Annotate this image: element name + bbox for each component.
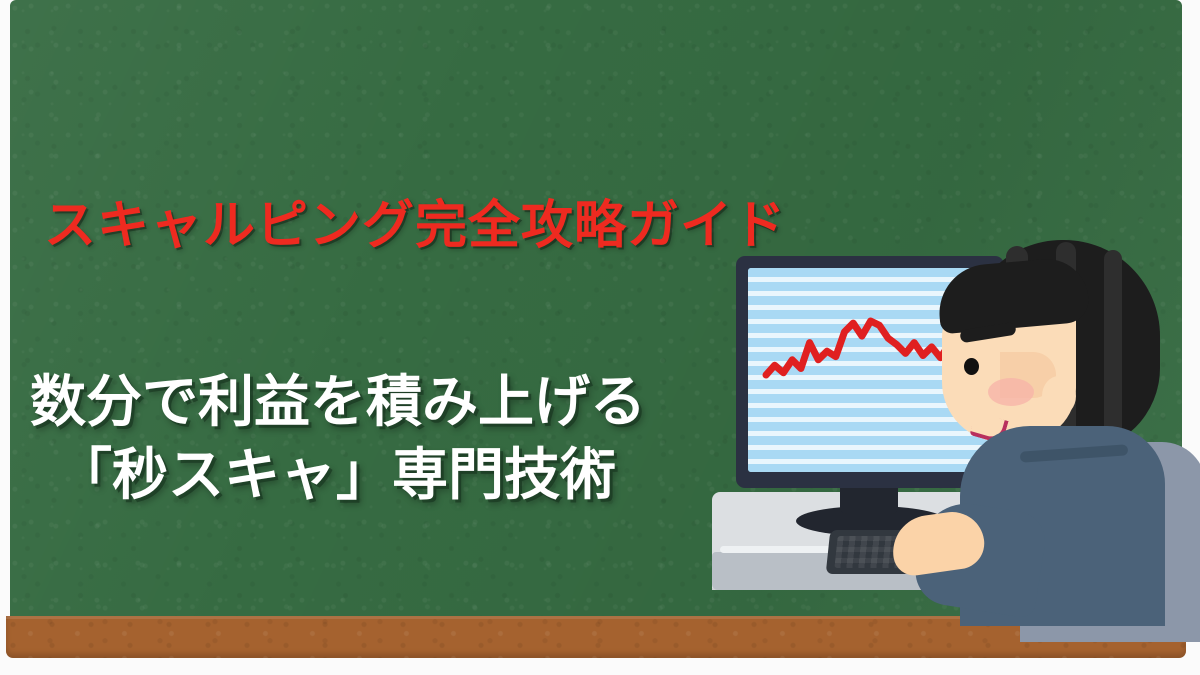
slide-canvas: スキャルピング完全攻略ガイド 数分で利益を積み上げる 「秒スキャ」専門技術	[0, 0, 1200, 675]
illustration-man-trading-at-computer	[690, 230, 1190, 622]
ear	[1042, 376, 1076, 416]
cheek-blush	[988, 378, 1034, 406]
subtitle-line-2: 「秒スキャ」専門技術	[30, 439, 646, 512]
subtitle-line-1: 数分で利益を積み上げる	[30, 370, 646, 433]
eye	[964, 358, 979, 375]
hair-highlight	[1104, 250, 1122, 446]
subtitle: 数分で利益を積み上げる 「秒スキャ」専門技術	[30, 366, 646, 512]
page-title: スキャルピング完全攻略ガイド	[44, 198, 786, 255]
